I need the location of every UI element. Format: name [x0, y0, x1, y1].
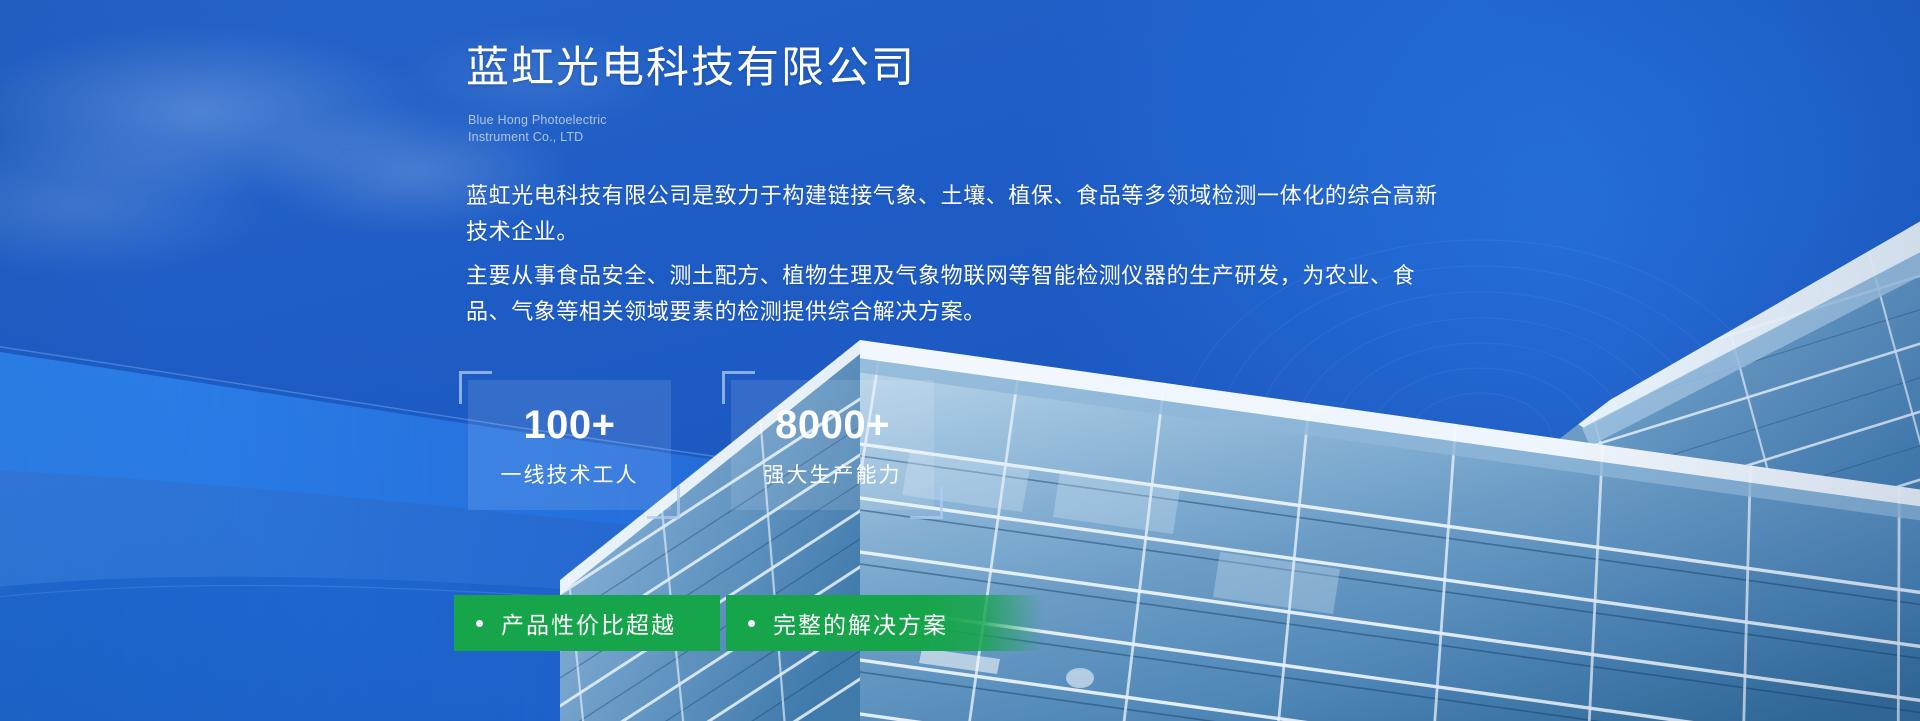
feature-tag-solution: 完整的解决方案: [726, 595, 1044, 651]
description-paragraph-1: 蓝虹光电科技有限公司是致力于构建链接气象、土壤、植保、食品等多领域检测一体化的综…: [466, 178, 1456, 250]
feature-tag-value: 产品性价比超越: [454, 595, 720, 651]
stat-label-capacity: 强大生产能力: [764, 465, 902, 486]
hero-banner: 蓝虹光电科技有限公司 Blue Hong Photoelectric Instr…: [0, 0, 1920, 721]
stat-value-workers: 100+: [523, 405, 615, 445]
bullet-dot-icon: [476, 620, 483, 627]
stat-label-workers: 一线技术工人: [501, 465, 639, 486]
stat-card-workers: 100+ 一线技术工人: [468, 380, 671, 510]
stat-card-capacity: 8000+ 强大生产能力: [731, 380, 934, 510]
feature-tag-value-label: 产品性价比超越: [501, 606, 676, 640]
description-paragraph-2: 主要从事食品安全、测土配方、植物生理及气象物联网等智能检测仪器的生产研发，为农业…: [466, 258, 1456, 330]
feature-tags-group: 产品性价比超越 完整的解决方案: [454, 595, 1044, 651]
stat-value-capacity: 8000+: [775, 405, 890, 445]
stats-group: 100+ 一线技术工人 8000+ 强大生产能力: [468, 380, 934, 510]
bullet-dot-icon: [748, 620, 755, 627]
company-subtitle-en: Blue Hong Photoelectric Instrument Co., …: [468, 112, 607, 146]
feature-tag-solution-label: 完整的解决方案: [773, 606, 948, 640]
subtitle-line-1: Blue Hong Photoelectric: [468, 112, 607, 129]
company-title: 蓝虹光电科技有限公司: [466, 45, 916, 91]
subtitle-line-2: Instrument Co., LTD: [468, 129, 607, 146]
